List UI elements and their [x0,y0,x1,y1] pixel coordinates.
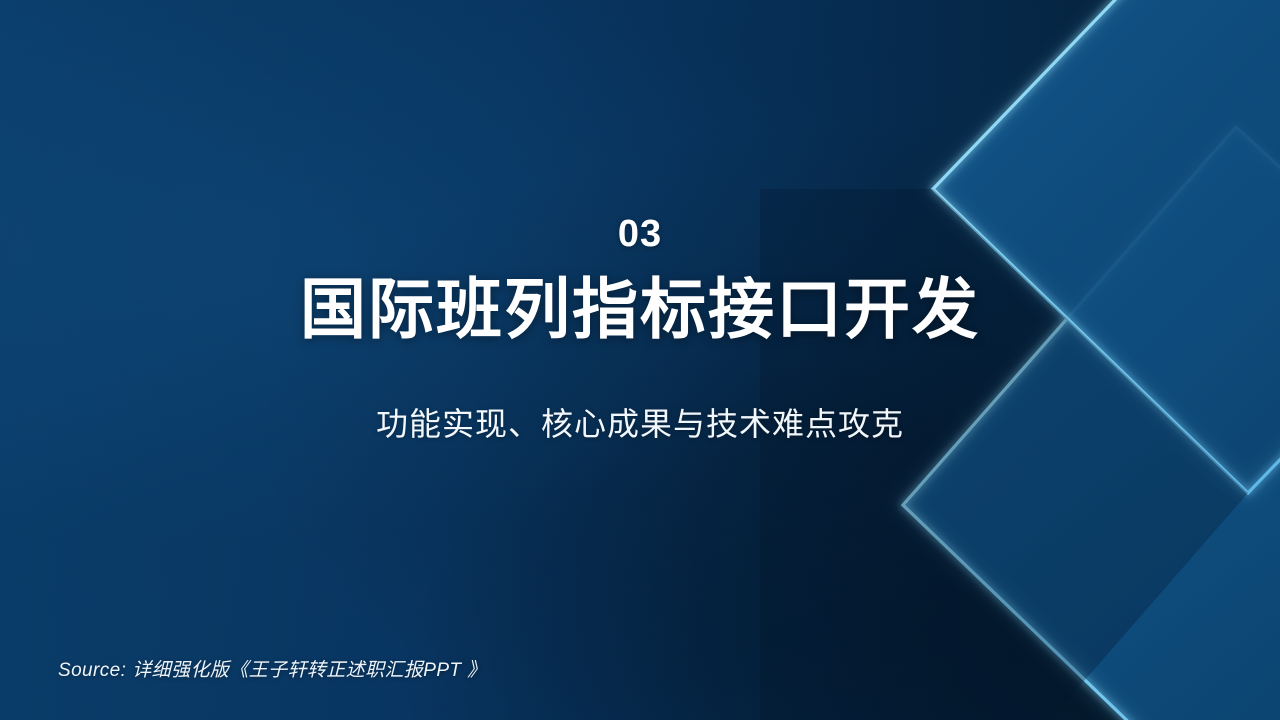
section-number: 03 [0,215,1280,253]
presentation-slide: 03 国际班列指标接口开发 功能实现、核心成果与技术难点攻克 Source:详细… [0,0,1280,720]
source-line: Source:详细强化版《王子轩转正述职汇报PPT 》 [58,655,487,682]
page-subtitle: 功能实现、核心成果与技术难点攻克 [0,404,1280,444]
page-title: 国际班列指标接口开发 [0,273,1280,347]
source-value: 详细强化版《王子轩转正述职汇报PPT 》 [132,660,486,681]
slide-content: 03 国际班列指标接口开发 功能实现、核心成果与技术难点攻克 Source:详细… [0,0,1280,720]
source-label: Source: [58,660,126,681]
